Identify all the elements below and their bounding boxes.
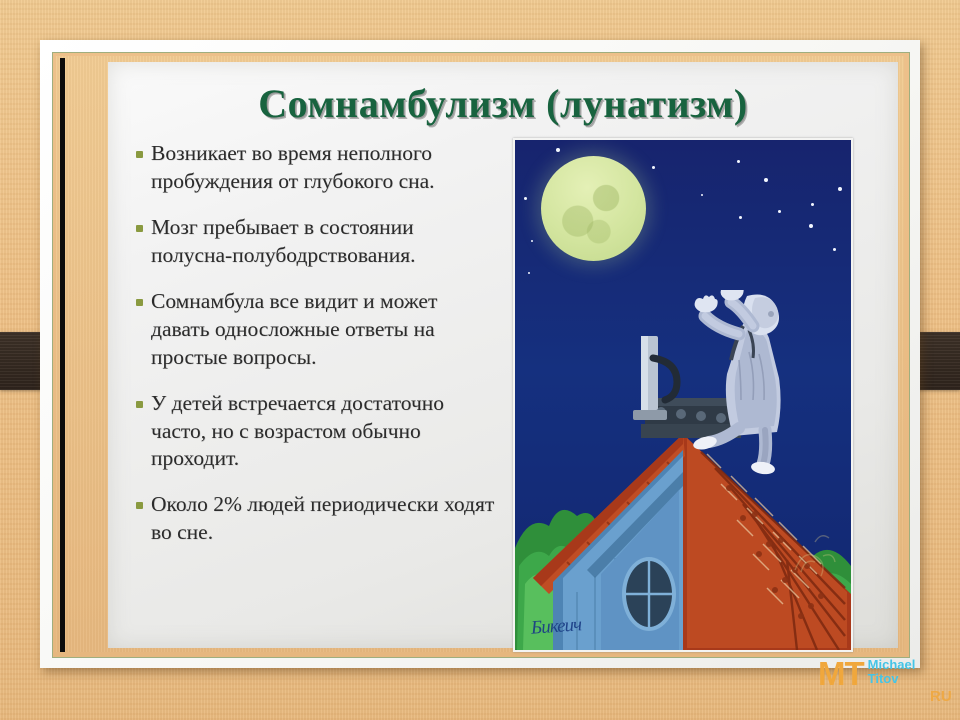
sleepwalking-man-figure [687, 290, 807, 480]
list-item: У детей встречается достаточно часто, но… [136, 390, 496, 474]
bullet-text: У детей встречается достаточно часто, но… [151, 390, 496, 474]
presentation-slide: Сомнамбулизм (лунатизм) Возникает во вре… [0, 0, 960, 720]
bullet-list: Возникает во время неполного пробуждения… [136, 140, 496, 565]
star-icon [739, 216, 742, 219]
star-icon [838, 187, 842, 191]
artist-signature: Бикеич [530, 614, 582, 639]
full-moon-icon [541, 156, 646, 261]
star-icon [833, 248, 836, 251]
star-icon [809, 224, 813, 228]
bullet-text: Возникает во время неполного пробуждения… [151, 140, 496, 196]
star-icon [737, 160, 740, 163]
list-item: Около 2% людей периодически ходят во сне… [136, 491, 496, 547]
bullet-marker-icon [136, 151, 143, 158]
list-item: Мозг пребывает в состоянии полусна-полуб… [136, 214, 496, 270]
list-item: Возникает во время неполного пробуждения… [136, 140, 496, 196]
watermark-name: Michael Titov [868, 658, 916, 685]
content-panel: Сомнамбулизм (лунатизм) Возникает во вре… [108, 62, 898, 648]
slide-frame-black-bar [60, 58, 65, 652]
tv-antenna-icon [623, 328, 693, 448]
star-icon [701, 194, 703, 196]
illustration-frame: Бикеич [513, 138, 853, 652]
sketch-watermark-icon [785, 526, 847, 588]
bullet-text: Сомнамбула все видит и может давать одно… [151, 288, 496, 372]
watermark-name-line2: Titov [868, 671, 899, 686]
watermark-domain: RU [930, 688, 952, 705]
bullet-text: Мозг пребывает в состоянии полусна-полуб… [151, 214, 496, 270]
watermark-logo: MT [818, 658, 864, 689]
bullet-text: Около 2% людей периодически ходят во сне… [151, 491, 496, 547]
bullet-marker-icon [136, 225, 143, 232]
attic-window [622, 557, 676, 631]
star-icon [556, 148, 560, 152]
bullet-marker-icon [136, 299, 143, 306]
star-icon [764, 178, 768, 182]
star-icon [811, 203, 814, 206]
bullet-marker-icon [136, 401, 143, 408]
star-icon [528, 272, 530, 274]
site-watermark: MT Michael Titov RU [818, 658, 915, 704]
page-title: Сомнамбулизм (лунатизм) [108, 80, 898, 127]
star-icon [524, 197, 527, 200]
star-icon [531, 240, 533, 242]
star-icon [778, 210, 781, 213]
sleepwalker-illustration: Бикеич [515, 140, 851, 650]
list-item: Сомнамбула все видит и может давать одно… [136, 288, 496, 372]
bullet-marker-icon [136, 502, 143, 509]
star-icon [652, 166, 655, 169]
